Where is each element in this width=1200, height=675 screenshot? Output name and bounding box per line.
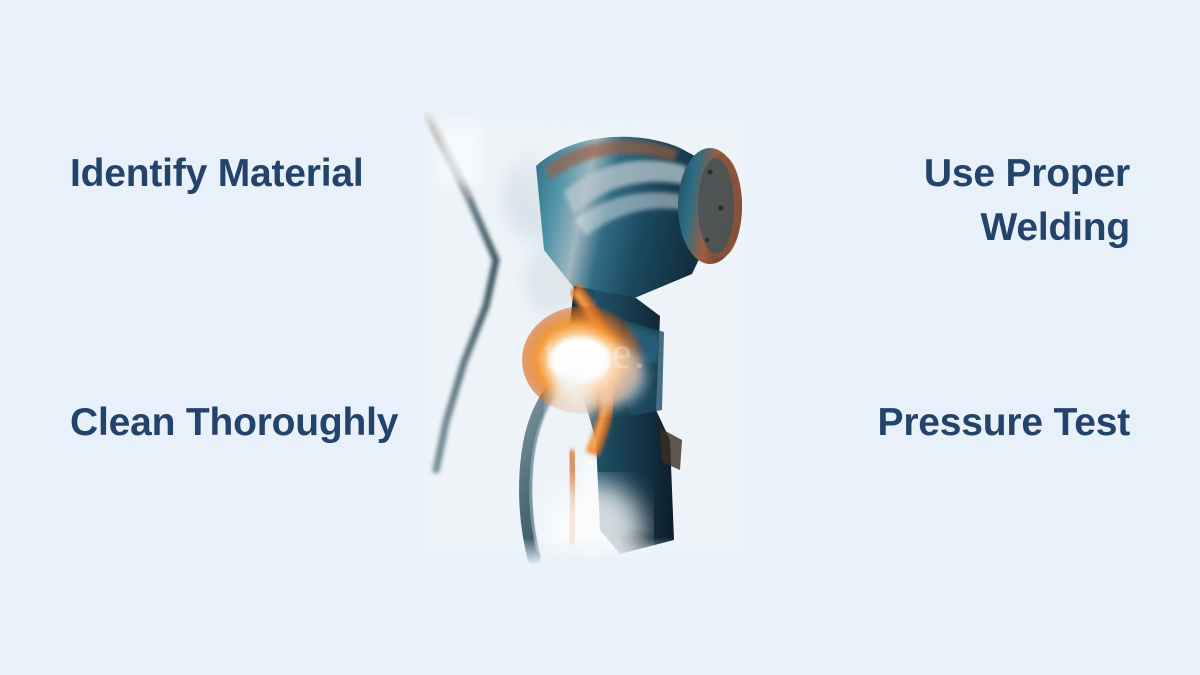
- label-clean-thoroughly: Clean Thoroughly: [70, 396, 398, 450]
- label-identify-material: Identify Material: [70, 147, 364, 201]
- label-pressure-test: Pressure Test: [878, 396, 1130, 450]
- label-use-proper-welding: Use Proper Welding: [924, 147, 1130, 255]
- welding-photo-graphic: time.: [424, 110, 744, 565]
- welding-photo: time.: [424, 110, 744, 565]
- photo-edge-fade: [424, 110, 744, 565]
- slide-canvas: Identify Material Clean Thoroughly Use P…: [0, 0, 1200, 675]
